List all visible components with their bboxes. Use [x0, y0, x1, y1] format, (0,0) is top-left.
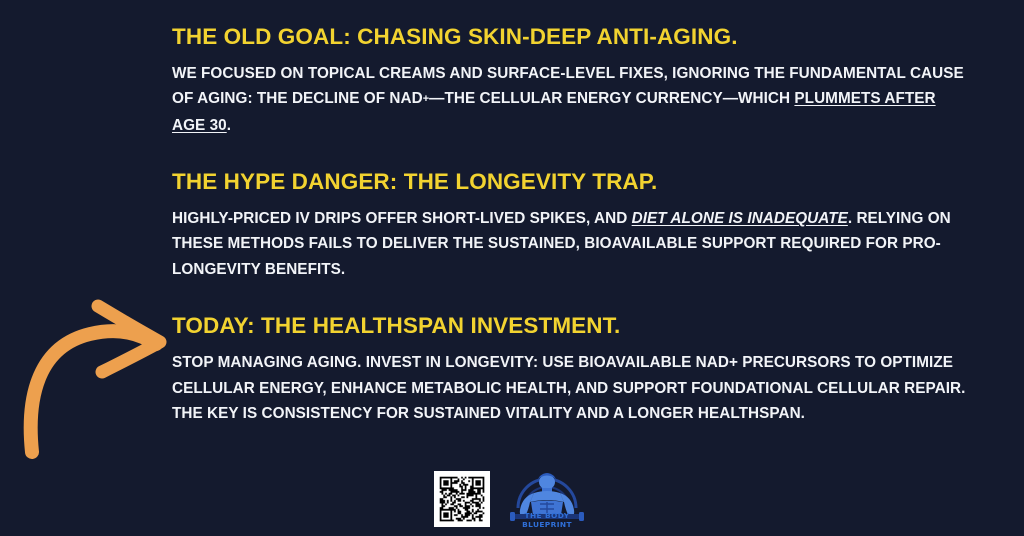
brand-name-label: THE BODY BLUEPRINT	[504, 511, 590, 529]
body-mid: —THE CELLULAR ENERGY CURRENCY—WHICH	[429, 90, 794, 107]
body-emphasis-phrase: DIET ALONE IS INADEQUATE	[632, 210, 848, 227]
section-heading: THE HYPE DANGER: THE LONGEVITY TRAP.	[172, 169, 972, 195]
section-healthspan-investment: TODAY: THE HEALTHSPAN INVESTMENT. STOP M…	[172, 313, 972, 427]
section-old-goal: THE OLD GOAL: CHASING SKIN-DEEP ANTI-AGI…	[172, 24, 972, 139]
footer-branding: THE BODY BLUEPRINT	[0, 462, 1024, 536]
body-tail: .	[227, 117, 231, 134]
curved-arrow-icon	[6, 290, 174, 462]
section-body: STOP MANAGING AGING. INVEST IN LONGEVITY…	[172, 350, 972, 427]
qr-code[interactable]	[434, 471, 490, 527]
slide-canvas: THE OLD GOAL: CHASING SKIN-DEEP ANTI-AGI…	[0, 0, 1024, 536]
brand-logo: THE BODY BLUEPRINT	[504, 468, 590, 530]
section-body: HIGHLY-PRICED IV DRIPS OFFER SHORT-LIVED…	[172, 206, 972, 283]
section-heading: TODAY: THE HEALTHSPAN INVESTMENT.	[172, 313, 972, 339]
content-column: THE OLD GOAL: CHASING SKIN-DEEP ANTI-AGI…	[172, 24, 972, 431]
section-body: WE FOCUSED ON TOPICAL CREAMS AND SURFACE…	[172, 61, 972, 139]
section-heading: THE OLD GOAL: CHASING SKIN-DEEP ANTI-AGI…	[172, 24, 972, 50]
section-hype-danger: THE HYPE DANGER: THE LONGEVITY TRAP. HIG…	[172, 169, 972, 283]
body-lead: HIGHLY-PRICED IV DRIPS OFFER SHORT-LIVED…	[172, 210, 632, 227]
